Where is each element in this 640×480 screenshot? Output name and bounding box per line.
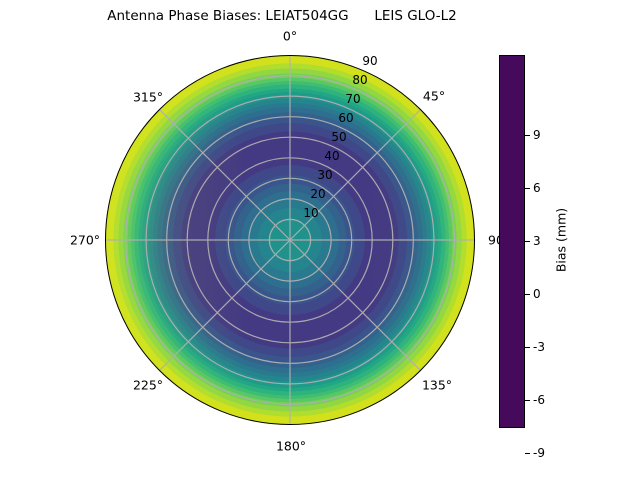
polar-axes [105,55,475,425]
colorbar-tick-3 [525,241,530,242]
colorbar: 9 6 3 0 -3 -6 -9 [499,55,525,428]
page-title: Antenna Phase Biases: LEIAT504GG LEIS GL… [0,8,564,24]
theta-tick-135: 135° [422,378,452,393]
r-tick-30: 30 [317,168,332,182]
r-tick-80: 80 [352,73,367,87]
colorbar-tick-0 [525,294,530,295]
matplotlib-figure: Antenna Phase Biases: LEIAT504GG LEIS GL… [0,0,640,480]
r-tick-90: 90 [362,54,377,68]
colorbar-ticklabel-9: 9 [533,128,541,142]
theta-tick-315: 315° [133,90,163,105]
colorbar-ticklabel-m6: -6 [533,393,545,407]
polar-data-disc [105,55,475,425]
colorbar-gradient [499,55,525,428]
colorbar-ticklabel-3: 3 [533,234,541,248]
r-tick-10: 10 [303,206,318,220]
r-tick-70: 70 [345,92,360,106]
r-tick-40: 40 [324,149,339,163]
azimuth-asymmetry-overlay [105,55,475,425]
r-tick-50: 50 [331,130,346,144]
theta-tick-225: 225° [133,378,163,393]
theta-tick-180: 180° [276,439,306,454]
theta-tick-45: 45° [423,89,445,104]
colorbar-ticklabel-6: 6 [533,181,541,195]
r-tick-20: 20 [310,187,325,201]
colorbar-axis-label: Bias (mm) [554,208,569,272]
r-tick-60: 60 [338,111,353,125]
colorbar-tick-m3 [525,347,530,348]
theta-tick-270: 270° [70,233,100,248]
theta-tick-0: 0° [283,29,297,44]
colorbar-tick-m9 [525,453,530,454]
colorbar-ticklabel-0: 0 [533,287,541,301]
colorbar-tick-9 [525,135,530,136]
colorbar-tick-6 [525,188,530,189]
colorbar-ticklabel-m9: -9 [533,446,545,460]
colorbar-tick-m6 [525,400,530,401]
colorbar-ticklabel-m3: -3 [533,340,545,354]
